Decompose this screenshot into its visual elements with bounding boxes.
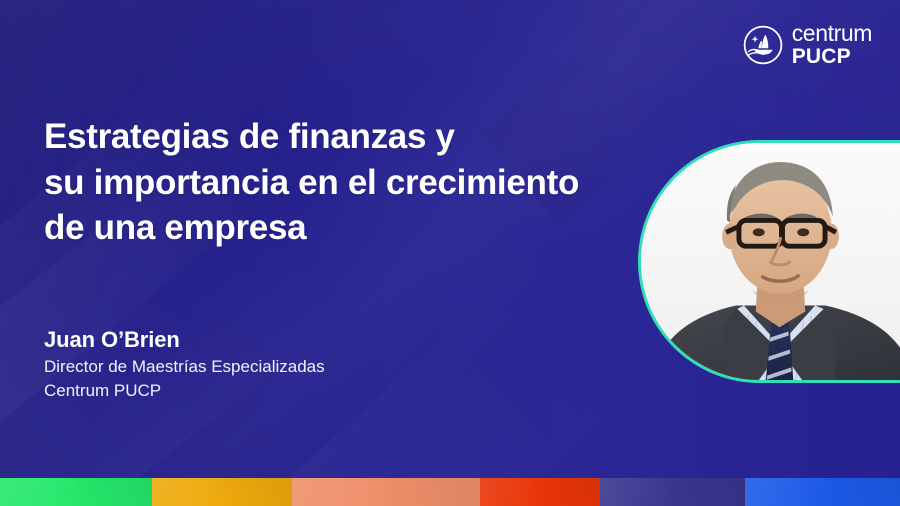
colorbar-segment-yellow xyxy=(152,478,292,506)
presentation-slide: centrum PUCP Estrategias de finanzas y s… xyxy=(0,0,900,506)
colorbar-segment-green xyxy=(0,478,152,506)
speaker-role: Director de Maestrías Especializadas xyxy=(44,355,325,380)
slide-title-line-3: de una empresa xyxy=(44,205,644,251)
centrum-sailboat-emblem-icon xyxy=(743,25,783,65)
background-streak xyxy=(273,238,669,506)
speaker-info: Juan O’Brien Director de Maestrías Espec… xyxy=(44,325,325,404)
speaker-name: Juan O’Brien xyxy=(44,325,325,355)
speaker-organization: Centrum PUCP xyxy=(44,379,325,404)
slide-title-line-1: Estrategias de finanzas y xyxy=(44,114,644,160)
colorbar-segment-salmon xyxy=(292,478,480,506)
speaker-portrait-frame xyxy=(638,140,900,383)
colorbar-segment-bright-blue xyxy=(745,478,900,506)
logo-centrum-text: centrum xyxy=(792,22,872,45)
slide-title-line-2: su importancia en el crecimiento xyxy=(44,160,644,206)
bottom-color-bar xyxy=(0,478,900,506)
portrait-illustration xyxy=(641,143,900,380)
logo-pucp-text: PUCP xyxy=(792,46,872,67)
logo-wordmark: centrum PUCP xyxy=(792,22,872,67)
speaker-portrait-photo xyxy=(641,143,900,380)
slide-title: Estrategias de finanzas y su importancia… xyxy=(44,114,644,251)
colorbar-segment-indigo xyxy=(600,478,745,506)
colorbar-segment-red xyxy=(480,478,600,506)
centrum-pucp-logo: centrum PUCP xyxy=(743,22,872,67)
